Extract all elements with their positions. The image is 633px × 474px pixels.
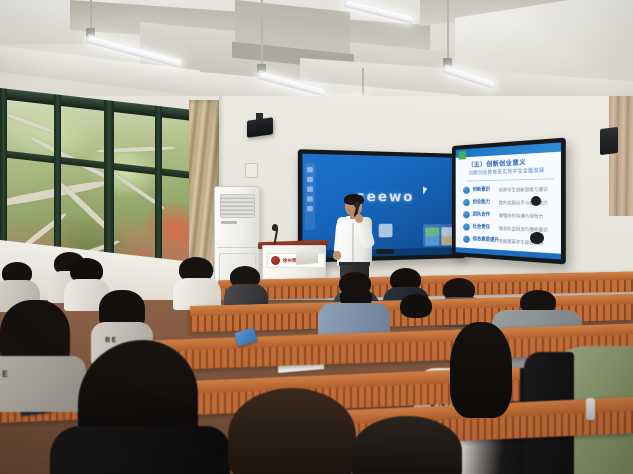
ac-grille <box>220 194 255 218</box>
slide-bullet-row: 创业能力 提升实践动手与组织能力 <box>463 198 556 208</box>
person-torso <box>50 426 230 474</box>
slide-header-bar <box>456 143 561 158</box>
person-hair <box>228 388 356 474</box>
bullet-text: 培养学生创新思维与意识 <box>499 186 548 193</box>
display-mount <box>376 249 394 254</box>
wall-speaker-right-icon <box>600 127 618 155</box>
presenter-shirt-placket <box>352 219 354 264</box>
hoodie-text: BE <box>0 370 9 380</box>
slide-bullet-row: 团队合作 增强协作沟通与领导力 <box>463 210 556 221</box>
bullet-key: 创业能力 <box>473 199 490 205</box>
wall-outlet <box>245 163 258 178</box>
slide-marker-icon <box>458 151 466 160</box>
bullet-key: 综合素质提升 <box>473 236 499 244</box>
bullet-key: 团队合作 <box>473 211 490 218</box>
curtain-right <box>609 96 633 216</box>
bullet-key: 社会责任 <box>473 224 490 231</box>
display-mount <box>531 196 541 206</box>
water-bottle <box>586 398 595 420</box>
bullet-text: 增强协作沟通与领导力 <box>499 212 544 219</box>
lectern-mic-icon <box>272 224 278 231</box>
display-mount <box>530 232 544 244</box>
lectern-laptop <box>296 249 318 265</box>
bullet-icon <box>463 199 470 206</box>
bullet-icon <box>463 223 470 230</box>
audience-person <box>228 388 358 474</box>
slide-display[interactable]: （五）创新创业意义 创新创业教育是实现学生全面发展 创新意识 培养学生创新思维与… <box>452 138 566 265</box>
bullet-key: 创新意识 <box>473 186 490 192</box>
whiteboard-app-icon[interactable] <box>379 224 393 238</box>
university-seal-icon <box>270 255 281 266</box>
ac-logo <box>221 221 237 224</box>
audience-person <box>175 257 219 307</box>
bullet-icon <box>463 236 470 243</box>
person-hair <box>352 416 462 474</box>
wall-speaker-icon <box>247 117 273 138</box>
audience-person <box>60 340 220 474</box>
presentation-slide: （五）创新创业意义 创新创业教育是实现学生全面发展 创新意识 培养学生创新思维与… <box>456 143 561 260</box>
lecture-hall-photo: seewo （五）创新创业意义 创新创业教育是实现学生全面发展 创新意识 培养学 <box>0 0 633 474</box>
ac-divider <box>217 247 257 248</box>
whiteboard-sidebar[interactable] <box>305 162 315 229</box>
slide-bullet-row: 创新意识 培养学生创新思维与意识 <box>463 184 556 195</box>
bullet-icon <box>463 187 470 194</box>
presenter-left-hand <box>333 251 341 260</box>
person-hair <box>450 322 512 418</box>
slide-divider <box>467 178 554 181</box>
handheld-mic-icon <box>354 202 360 208</box>
cursor-icon <box>423 186 427 194</box>
bullet-icon <box>463 211 470 218</box>
audience-person <box>352 416 462 474</box>
